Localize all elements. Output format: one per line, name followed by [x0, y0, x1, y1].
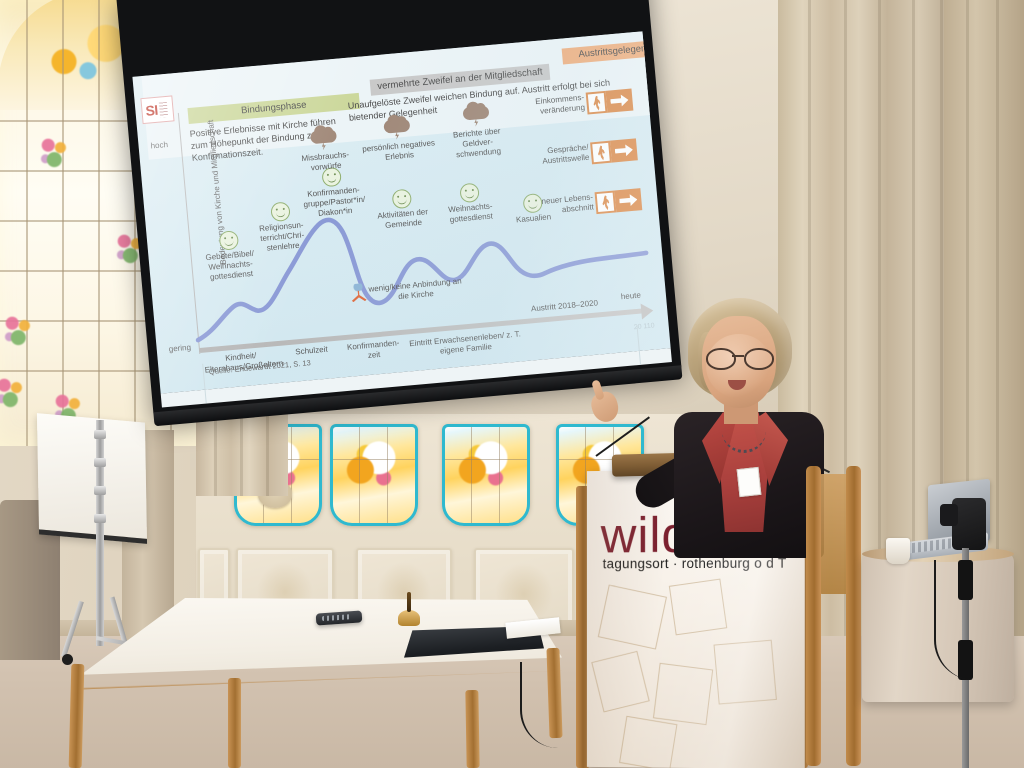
table-leg-back-left — [228, 678, 241, 768]
positive-marker-2: Religionsun- terricht/Chri- stenlehre — [250, 219, 314, 254]
exit-running-figure-icon-3 — [595, 188, 643, 214]
presentation-photo-scene: SI 2. Beziehungen – Kirchenbindung – Kir… — [0, 0, 1024, 768]
table-leg-front-left — [69, 664, 85, 768]
exit-running-figure-icon-1 — [586, 89, 634, 115]
si-logo-text: SI — [145, 102, 159, 119]
presentation-slide: SI 2. Beziehungen – Kirchenbindung – Kir… — [132, 31, 670, 393]
exit-running-figure-icon-2 — [590, 138, 638, 164]
negative-marker-3: Berichte über Geldver- schwendung — [439, 125, 517, 162]
si-logo: SI — [140, 95, 174, 124]
storm-cloud-icon-2 — [383, 116, 410, 136]
eyeglasses-icon — [706, 348, 772, 366]
name-badge — [737, 467, 762, 497]
white-cup — [886, 538, 910, 564]
flipchart-board — [37, 413, 147, 544]
brass-bell[interactable] — [398, 592, 420, 626]
slide-title: 2. Beziehungen – Kirchenbindung – Kirche… — [150, 31, 671, 32]
stained-glass-window-3 — [442, 424, 530, 526]
storm-cloud-icon-1 — [310, 127, 337, 147]
stained-glass-window-2 — [330, 424, 418, 526]
x-tick-3: Konfirmanden- zeit — [341, 338, 407, 364]
flipchart-pole — [96, 420, 104, 646]
y-tick-high: hoch — [150, 140, 168, 151]
table-leg-front-right — [465, 690, 479, 768]
broken-anchor-icon — [350, 283, 368, 302]
projection-screen: SI 2. Beziehungen – Kirchenbindung – Kir… — [116, 0, 682, 416]
power-cable — [934, 560, 976, 680]
wooden-chair — [806, 466, 858, 766]
y-tick-low: gering — [168, 343, 191, 354]
camera-mount — [952, 498, 986, 550]
negative-marker-2: persönlich negatives Erlebnis — [361, 138, 436, 164]
storm-cloud-icon-3 — [462, 103, 489, 123]
